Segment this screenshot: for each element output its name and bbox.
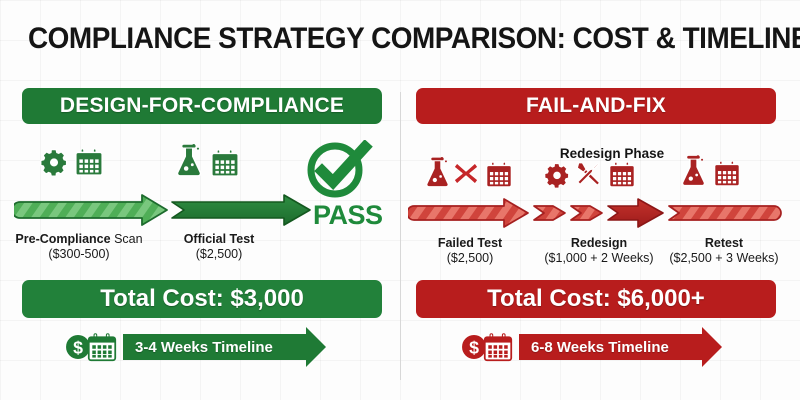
right-flow-arrows [408, 196, 788, 230]
right-step-3-label: Retest ($2,500 + 3 Weeks) [656, 236, 792, 266]
chevron-1 [534, 206, 565, 220]
flask-icon [174, 143, 204, 177]
right-step-1-label: Failed Test ($2,500) [412, 236, 528, 266]
left-timeline-banner: 3-4 Weeks Timeline [123, 334, 307, 360]
gear-icon [544, 162, 570, 188]
left-step-2-icons [174, 143, 240, 177]
left-panel: DESIGN-FOR-COMPLIANCE [14, 88, 394, 388]
left-step-1-label: Pre-Compliance Scan ($300-500) [14, 232, 144, 262]
left-arrow-group [14, 193, 394, 227]
left-step-1-icons [40, 148, 104, 176]
svg-text:$: $ [73, 338, 83, 358]
left-flow-arrows [14, 193, 394, 227]
arrow-redesign [608, 199, 663, 227]
left-timeline-row: $ 3-4 Weeks Timeline [64, 332, 307, 362]
svg-text:$: $ [469, 338, 479, 358]
left-total-cost-bar: Total Cost: $3,000 [22, 280, 382, 318]
left-panel-header: DESIGN-FOR-COMPLIANCE [22, 88, 382, 124]
right-arrow-group [408, 196, 788, 230]
calendar-icon [483, 332, 513, 362]
infographic-canvas: COMPLIANCE STRATEGY COMPARISON: COST & T… [0, 0, 800, 400]
calendar-icon [210, 149, 240, 177]
tools-icon [574, 160, 602, 188]
gear-icon [40, 148, 68, 176]
left-step-2-label: Official Test ($2,500) [154, 232, 284, 262]
right-timeline-row: $ 6-8 Weeks Timeline [460, 332, 703, 362]
arrow-pre-compliance [14, 195, 167, 225]
right-step-2-label: Redesign ($1,000 + 2 Weeks) [528, 236, 670, 266]
right-step-3-icons [680, 154, 741, 187]
page-title: COMPLIANCE STRATEGY COMPARISON: COST & T… [28, 22, 772, 56]
calendar-icon [608, 161, 636, 188]
calendar-icon [74, 148, 104, 176]
right-panel: FAIL-AND-FIX Redesign Phase [408, 88, 788, 388]
panel-divider [400, 92, 401, 380]
calendar-icon [87, 332, 117, 362]
flask-icon [680, 154, 707, 187]
flask-icon [424, 156, 451, 188]
right-timeline-banner: 6-8 Weeks Timeline [519, 334, 703, 360]
right-step-1-icons [424, 156, 513, 188]
right-total-cost-bar: Total Cost: $6,000+ [416, 280, 776, 318]
calendar-icon [485, 161, 513, 188]
chevron-2 [571, 206, 602, 220]
x-mark-icon [453, 160, 479, 186]
right-panel-header: FAIL-AND-FIX [416, 88, 776, 124]
arrow-retest [669, 206, 781, 220]
calendar-icon [713, 160, 741, 187]
right-step-2-icons [544, 160, 636, 188]
arrow-failed-test [408, 199, 528, 227]
arrow-official-test [172, 195, 310, 225]
